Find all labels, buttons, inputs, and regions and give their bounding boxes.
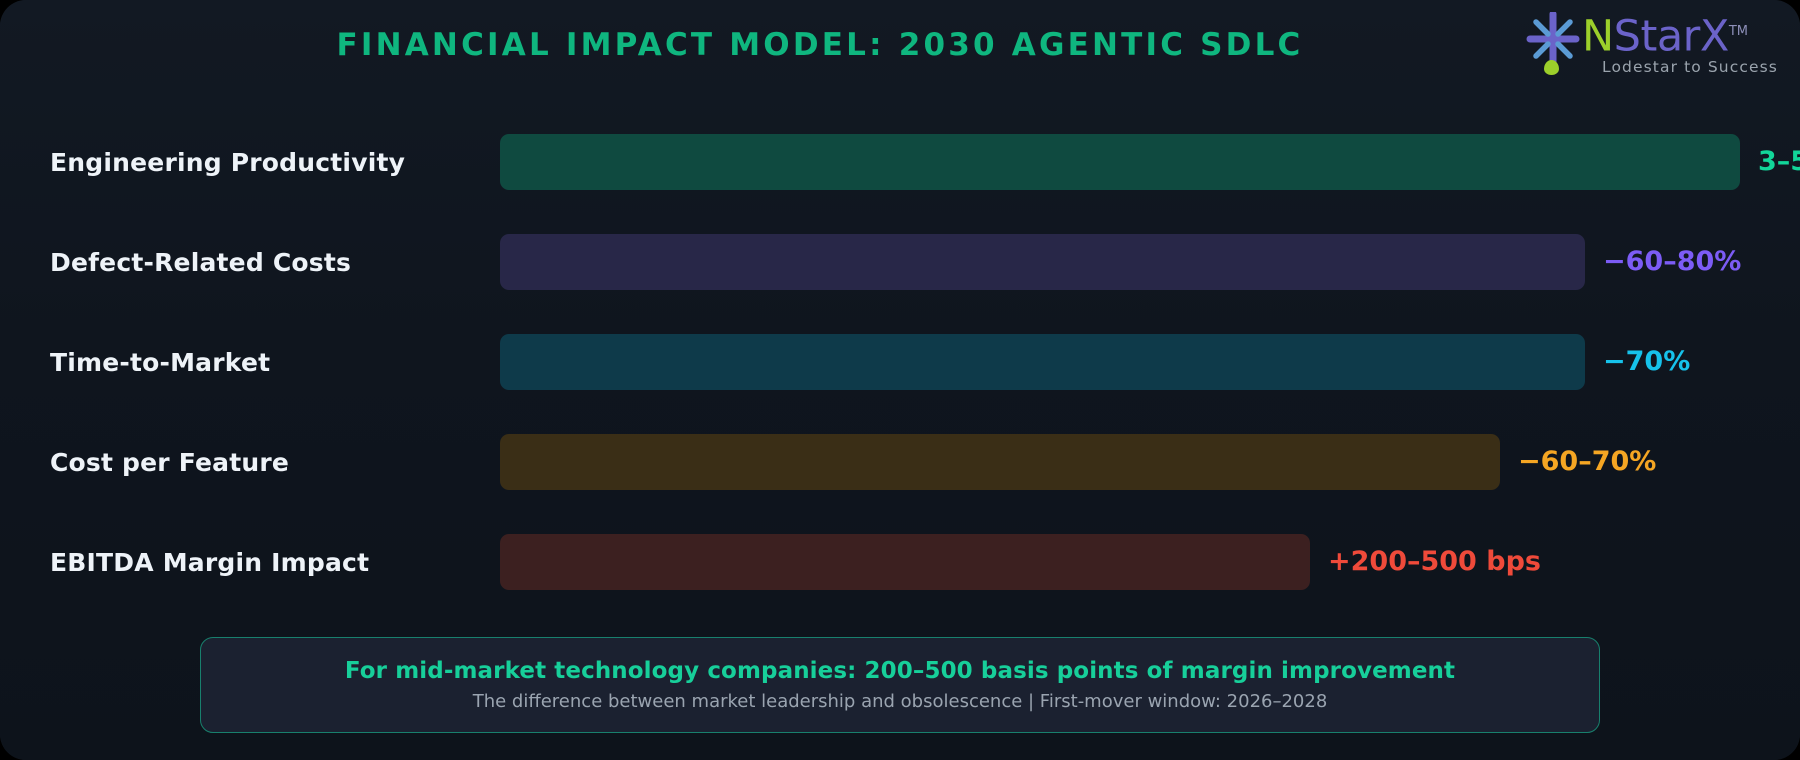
lodestar-drop-icon <box>1544 60 1559 75</box>
bar-value-engineering-productivity: 3–5x <box>1740 134 1800 190</box>
chart-row: Cost per Feature −60–70% <box>0 412 1800 512</box>
bar-time-to-market[interactable] <box>500 334 1585 390</box>
brand-logo[interactable]: NStarXTM Lodestar to Success <box>1520 8 1770 86</box>
row-label-engineering-productivity: Engineering Productivity <box>50 148 490 177</box>
row-label-time-to-market: Time-to-Market <box>50 348 490 377</box>
impact-bar-chart: Engineering Productivity 3–5x Defect-Rel… <box>0 112 1800 612</box>
chart-row: Time-to-Market −70% <box>0 312 1800 412</box>
logo-wordmark: NStarXTM <box>1582 8 1748 56</box>
bar-defect-related-costs[interactable] <box>500 234 1585 290</box>
bar-track: −60–70% <box>500 434 1740 490</box>
bar-value-ebitda-margin-impact: +200–500 bps <box>1310 534 1541 590</box>
row-label-defect-related-costs: Defect-Related Costs <box>50 248 490 277</box>
bar-value-time-to-market: −70% <box>1585 334 1690 390</box>
bar-value-cost-per-feature: −60–70% <box>1500 434 1656 490</box>
bar-track: 3–5x <box>500 134 1740 190</box>
callout-subtext: The difference between market leadership… <box>473 691 1328 712</box>
row-label-cost-per-feature: Cost per Feature <box>50 448 490 477</box>
row-label-ebitda-margin-impact: EBITDA Margin Impact <box>50 548 490 577</box>
bar-track: −70% <box>500 334 1740 390</box>
logo-tagline: Lodestar to Success <box>1602 58 1778 76</box>
trademark-mark: TM <box>1729 24 1748 39</box>
chart-row: Defect-Related Costs −60–80% <box>0 212 1800 312</box>
bar-track: +200–500 bps <box>500 534 1740 590</box>
bar-cost-per-feature[interactable] <box>500 434 1500 490</box>
bar-ebitda-margin-impact[interactable] <box>500 534 1310 590</box>
logo-letter-n: N <box>1582 11 1614 61</box>
callout-headline: For mid-market technology companies: 200… <box>345 658 1455 684</box>
slide-canvas: FINANCIAL IMPACT MODEL: 2030 AGENTIC SDL… <box>0 0 1800 760</box>
bar-engineering-productivity[interactable] <box>500 134 1740 190</box>
bar-track: −60–80% <box>500 234 1740 290</box>
summary-callout: For mid-market technology companies: 200… <box>200 637 1600 733</box>
header: FINANCIAL IMPACT MODEL: 2030 AGENTIC SDL… <box>0 0 1800 100</box>
logo-text-starx: StarX <box>1614 11 1729 61</box>
chart-row: Engineering Productivity 3–5x <box>0 112 1800 212</box>
chart-row: EBITDA Margin Impact +200–500 bps <box>0 512 1800 612</box>
bar-value-defect-related-costs: −60–80% <box>1585 234 1741 290</box>
